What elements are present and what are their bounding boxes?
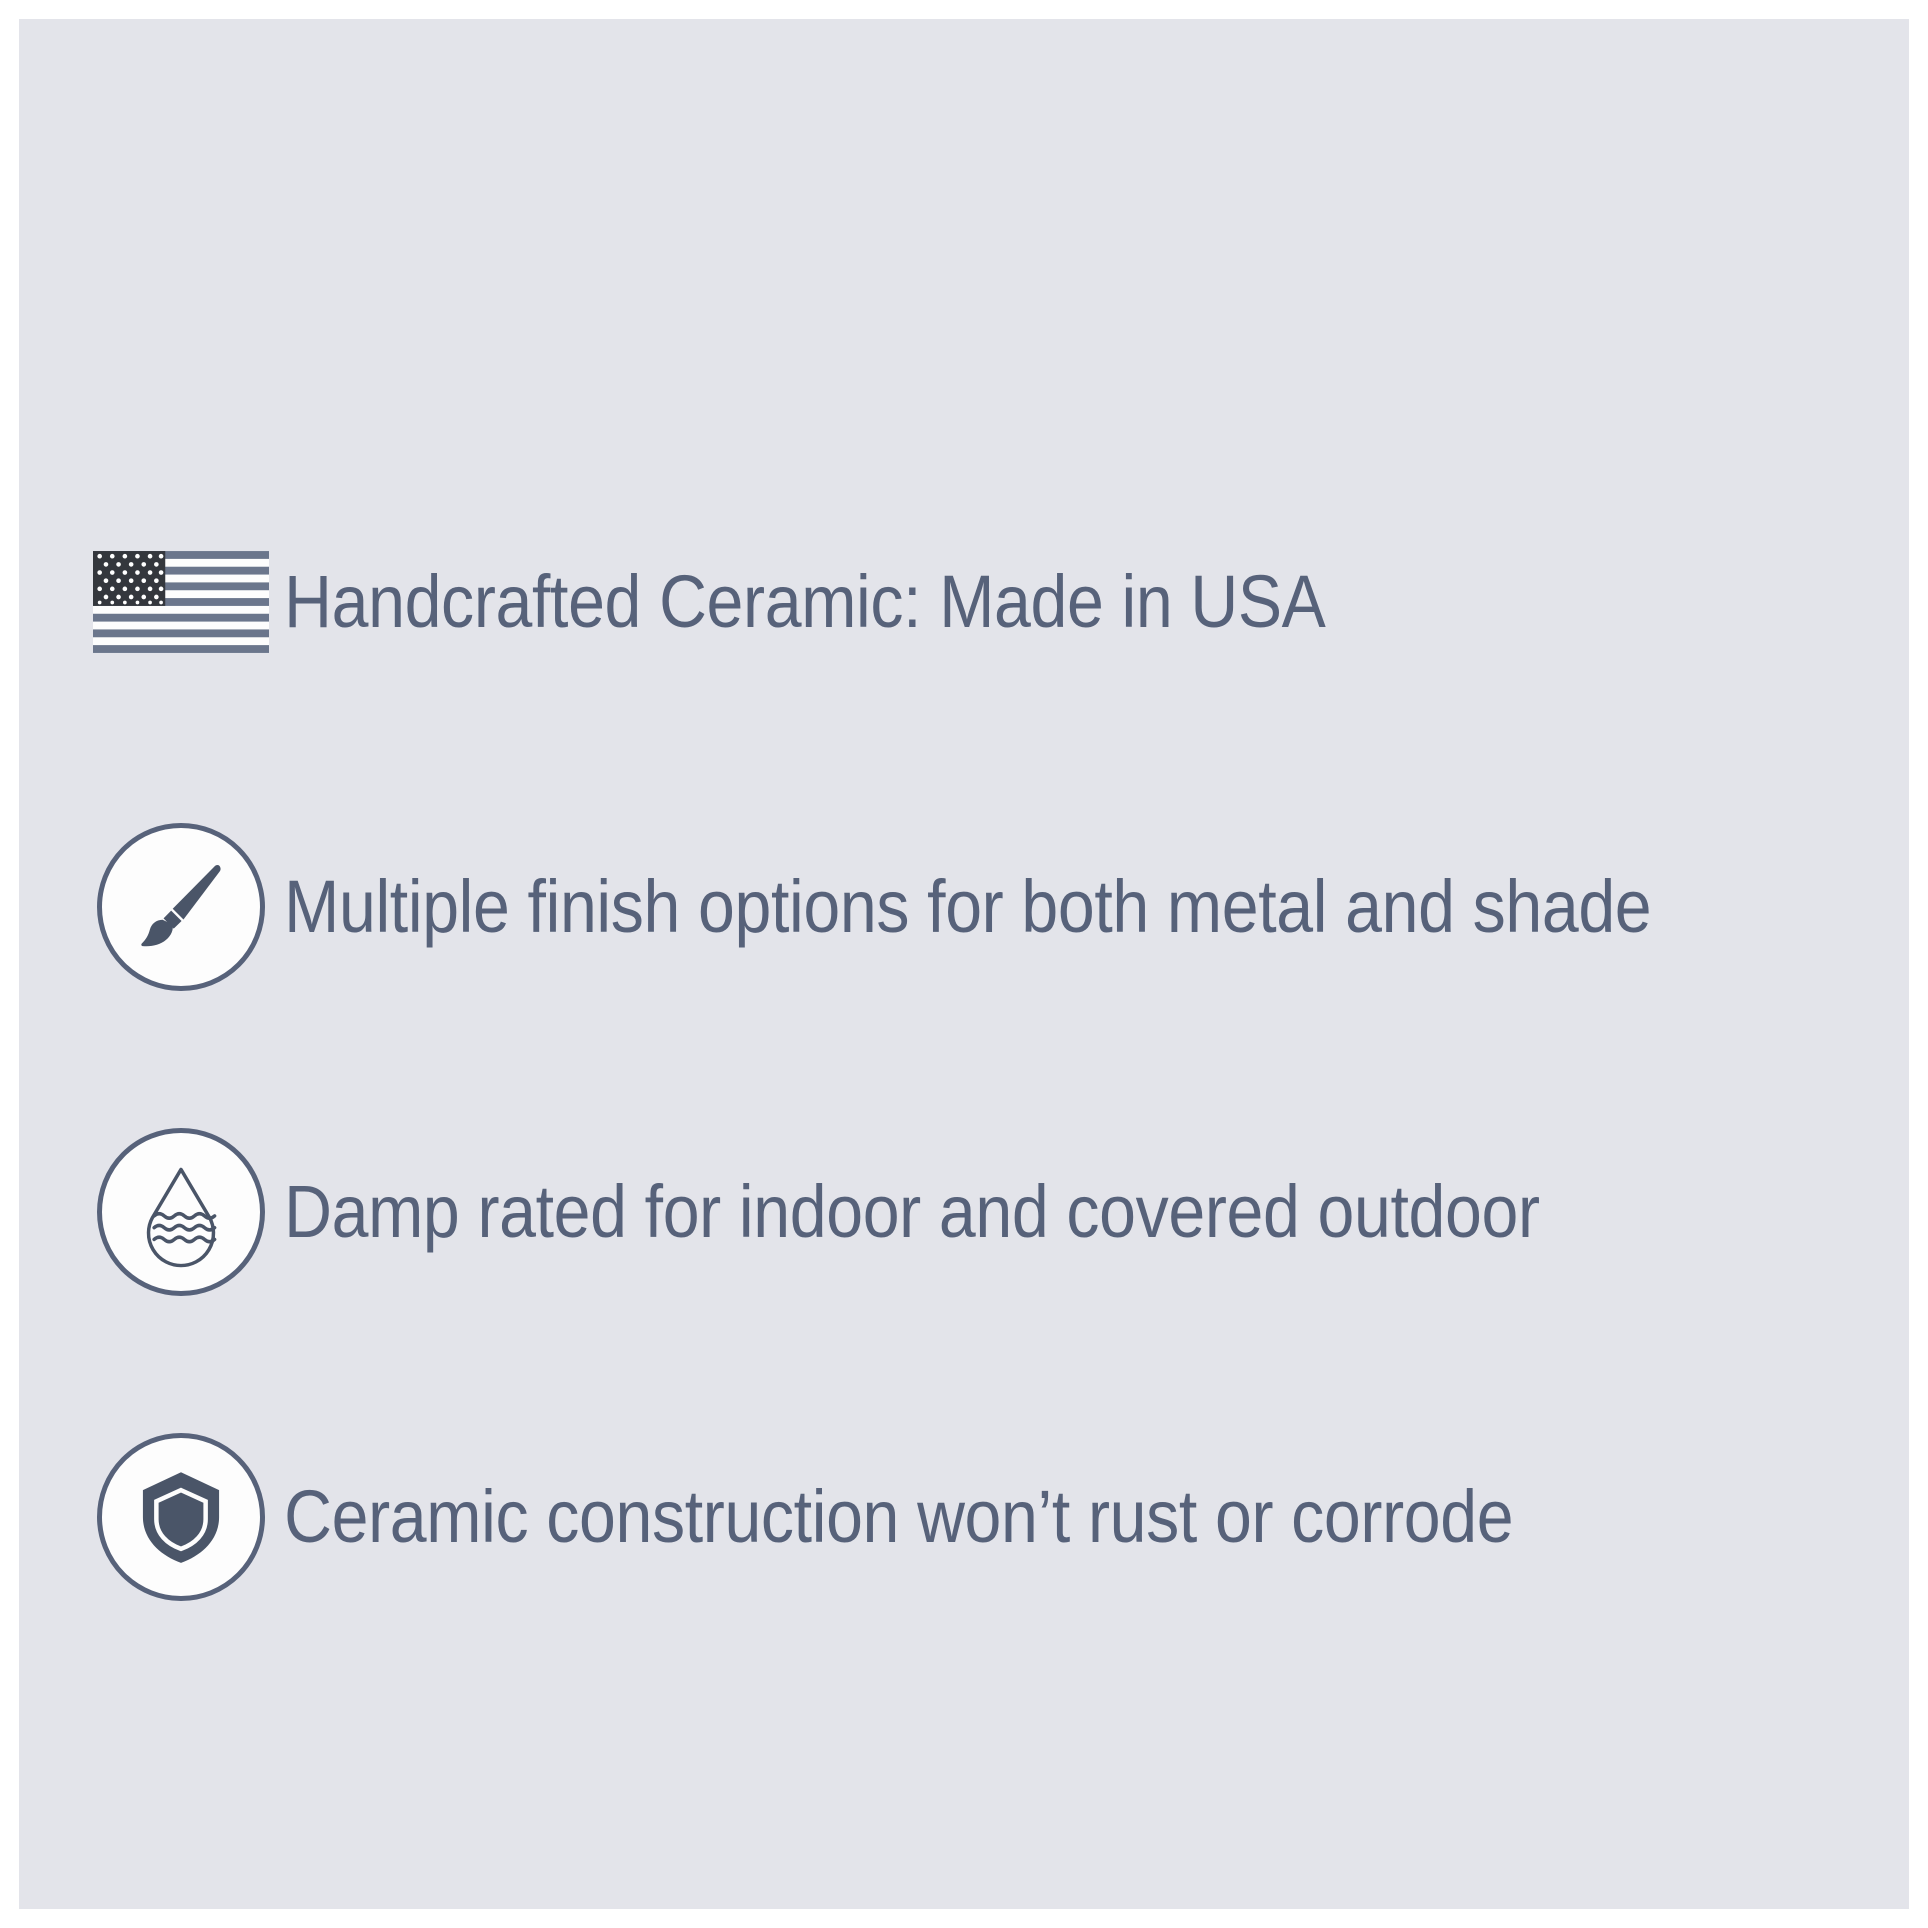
feature-row: Ceramic construction won’t rust or corro… — [85, 1364, 1885, 1669]
feature-panel: Handcrafted Ceramic: Made in USA Multipl… — [19, 19, 1909, 1909]
feature-label: Damp rated for indoor and covered outdoo… — [277, 1173, 1540, 1251]
feature-list: Handcrafted Ceramic: Made in USA Multipl… — [85, 449, 1885, 1669]
feature-row: Multiple finish options for both metal a… — [85, 754, 1885, 1059]
icon-slot — [85, 1122, 277, 1302]
feature-row: Handcrafted Ceramic: Made in USA — [85, 449, 1885, 754]
icon-slot — [85, 817, 277, 997]
icon-slot — [85, 1427, 277, 1607]
feature-row: Damp rated for indoor and covered outdoo… — [85, 1059, 1885, 1364]
paintbrush-icon — [97, 823, 265, 991]
water-drop-waves-icon — [97, 1128, 265, 1296]
usa-flag-icon — [93, 550, 269, 654]
feature-label: Ceramic construction won’t rust or corro… — [277, 1478, 1513, 1556]
feature-label: Handcrafted Ceramic: Made in USA — [277, 563, 1325, 641]
feature-label: Multiple finish options for both metal a… — [277, 868, 1651, 946]
icon-slot — [85, 512, 277, 692]
shield-icon — [97, 1433, 265, 1601]
